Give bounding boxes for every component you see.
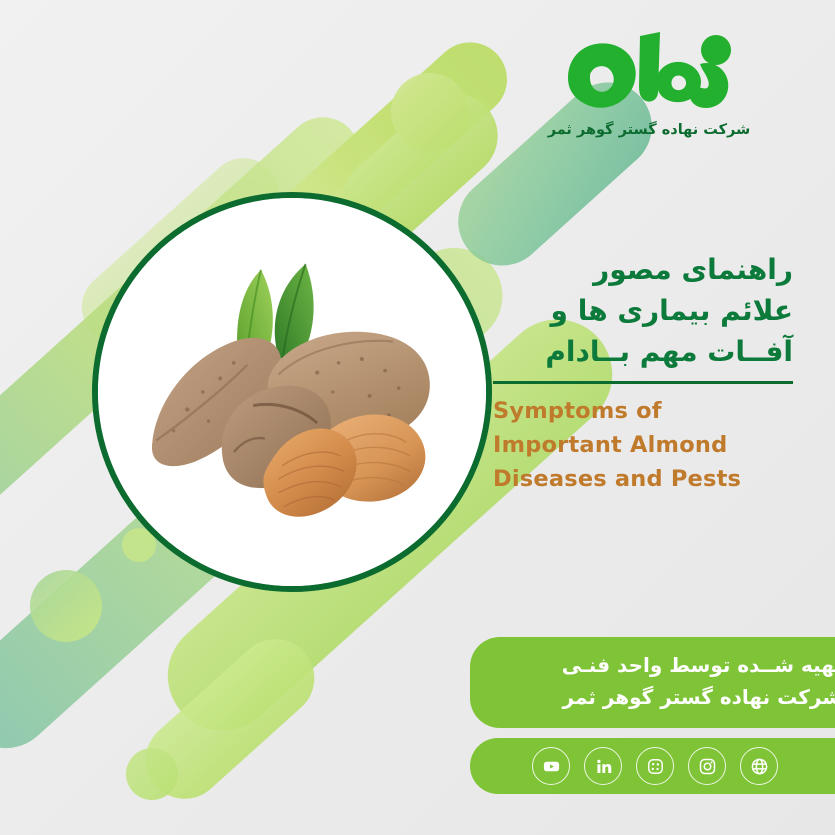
title-block: راهنمای مصور علائم بیماری ها و آفــات مه…	[493, 250, 793, 496]
credit-line-2: شرکت نهاده گستر گوهر ثمر	[496, 682, 835, 714]
brand-subtitle: شرکت نهاده گستر گوهر ثمر	[499, 122, 799, 138]
title-persian-line: علائم بیماری ها و	[493, 291, 793, 332]
credit-banner: تهیه شــده توسط واحد فنـی شرکت نهاده گست…	[470, 637, 835, 728]
brand-logo: شرکت نهاده گستر گوهر ثمر	[499, 26, 799, 138]
title-english: Symptoms of Important Almond Diseases an…	[493, 394, 793, 497]
title-divider	[493, 381, 793, 384]
title-persian: راهنمای مصور علائم بیماری ها و آفــات مه…	[493, 250, 793, 373]
hero-image-circle	[92, 192, 492, 592]
social-links-bar	[470, 738, 835, 794]
youtube-icon[interactable]	[532, 747, 570, 785]
aparat-icon[interactable]	[636, 747, 674, 785]
website-icon[interactable]	[740, 747, 778, 785]
hero-ring	[92, 192, 492, 592]
decorative-dot	[126, 748, 178, 800]
nahadeh-wordmark-icon	[554, 26, 744, 118]
title-persian-line: راهنمای مصور	[493, 250, 793, 291]
title-persian-line: آفــات مهم بــادام	[493, 332, 793, 373]
instagram-icon[interactable]	[688, 747, 726, 785]
decorative-dot	[391, 73, 469, 151]
almond-illustration	[98, 198, 486, 586]
poster-canvas: شرکت نهاده گستر گوهر ثمر راهنمای مصور عل…	[0, 0, 835, 835]
credit-line-1: تهیه شــده توسط واحد فنـی	[496, 650, 835, 682]
linkedin-icon[interactable]	[584, 747, 622, 785]
